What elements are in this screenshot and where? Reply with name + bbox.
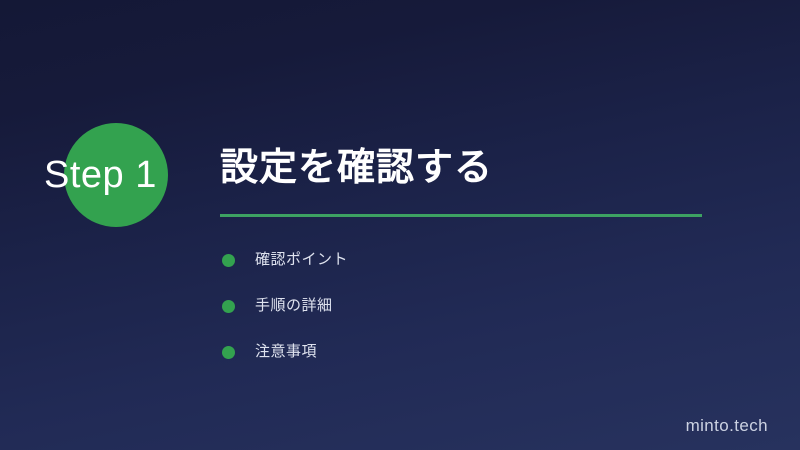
step-number-label: Step 1 [44,153,194,197]
slide-canvas: Step 1 設定を確認する 確認ポイント 手順の詳細 注意事項 minto.t… [0,0,800,450]
step-badge: Step 1 [64,123,168,227]
list-item: 注意事項 [222,329,348,375]
footer-brand: minto.tech [686,416,768,436]
list-item-label: 手順の詳細 [255,296,333,316]
list-item-label: 注意事項 [255,342,317,362]
list-item: 確認ポイント [222,237,348,283]
bullet-dot-icon [222,346,235,359]
bullet-dot-icon [222,254,235,267]
list-item: 手順の詳細 [222,283,348,329]
title-divider [220,214,702,217]
bullet-dot-icon [222,300,235,313]
title-block: 設定を確認する [220,144,720,217]
bullet-list: 確認ポイント 手順の詳細 注意事項 [222,237,348,375]
page-title: 設定を確認する [220,144,720,192]
list-item-label: 確認ポイント [255,250,348,270]
